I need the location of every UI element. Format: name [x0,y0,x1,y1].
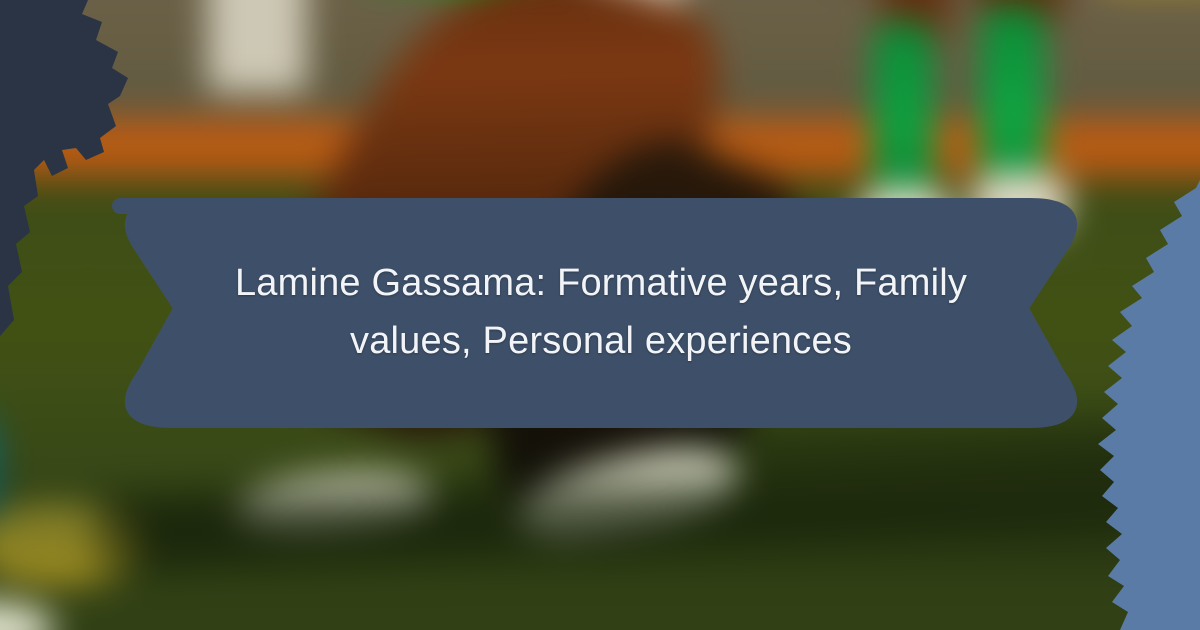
banner-title-line-1: Lamine Gassama: Formative years, Family [235,255,967,313]
share-card: Lamine Gassama: Formative years, Family … [0,0,1200,630]
pitch-shadow [0,506,1200,586]
banner-title-line-2: values, Personal experiences [350,313,852,371]
banner-title: Lamine Gassama: Formative years, Family … [112,198,1090,428]
player-green-sock [873,21,935,212]
stand-highlight [208,0,306,92]
title-banner: Lamine Gassama: Formative years, Family … [112,198,1090,428]
